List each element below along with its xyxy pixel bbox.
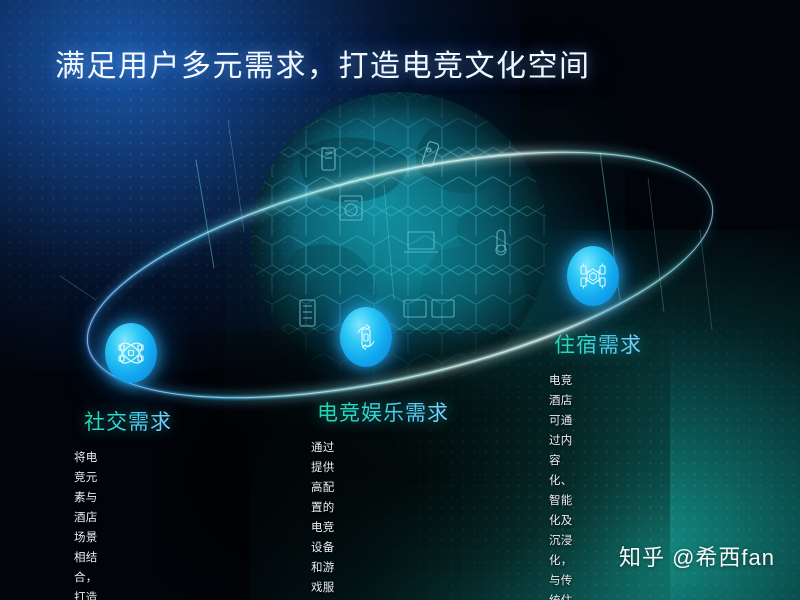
slide-title: 满足用户多元需求，打造电竞文化空间: [55, 41, 591, 85]
washing-machine-icon: [340, 196, 362, 220]
remote-control-icon: [422, 141, 440, 167]
feature-body-esports: 通过提供高配置的电竞设备 和游戏服务，满足用户的竞 技和开黑需求: [311, 438, 335, 600]
slide-canvas: 满足用户多元需求，打造电竞文化空间 社交需求 将电竞元素与酒店场景相结合， 打造…: [0, 0, 800, 600]
light-streaks: [0, 0, 800, 600]
feature-heading-esports: 电竞娱乐需求: [317, 397, 449, 427]
device-refresh-icon[interactable]: [340, 307, 392, 367]
glowing-orbit-ring: [0, 0, 800, 600]
hexagonal-mesh-globe: [0, 0, 800, 600]
feature-body-social: 将电竞元素与酒店场景相结合， 打造观赛、竞技结合的社交化 互动空间: [74, 448, 98, 600]
watermark: 知乎 @希西fan: [619, 540, 775, 572]
smartphone-icon: [322, 148, 335, 170]
laptop-icon: [404, 232, 438, 252]
smart-chip-icon[interactable]: [567, 246, 619, 306]
network-nodes-icon[interactable]: [105, 323, 157, 383]
foreground-vignette: [150, 330, 670, 600]
monitor-icon: [404, 300, 454, 317]
feature-body-accommodation: 电竞酒店可通过内容化、智能 化及沉浸化，与传统住宿空间 产生视觉效果的差异化: [549, 371, 573, 600]
server-rack-icon: [300, 300, 315, 326]
thermostat-icon: [496, 230, 506, 255]
feature-heading-social: 社交需求: [84, 406, 172, 436]
feature-heading-accommodation: 住宿需求: [554, 329, 642, 359]
